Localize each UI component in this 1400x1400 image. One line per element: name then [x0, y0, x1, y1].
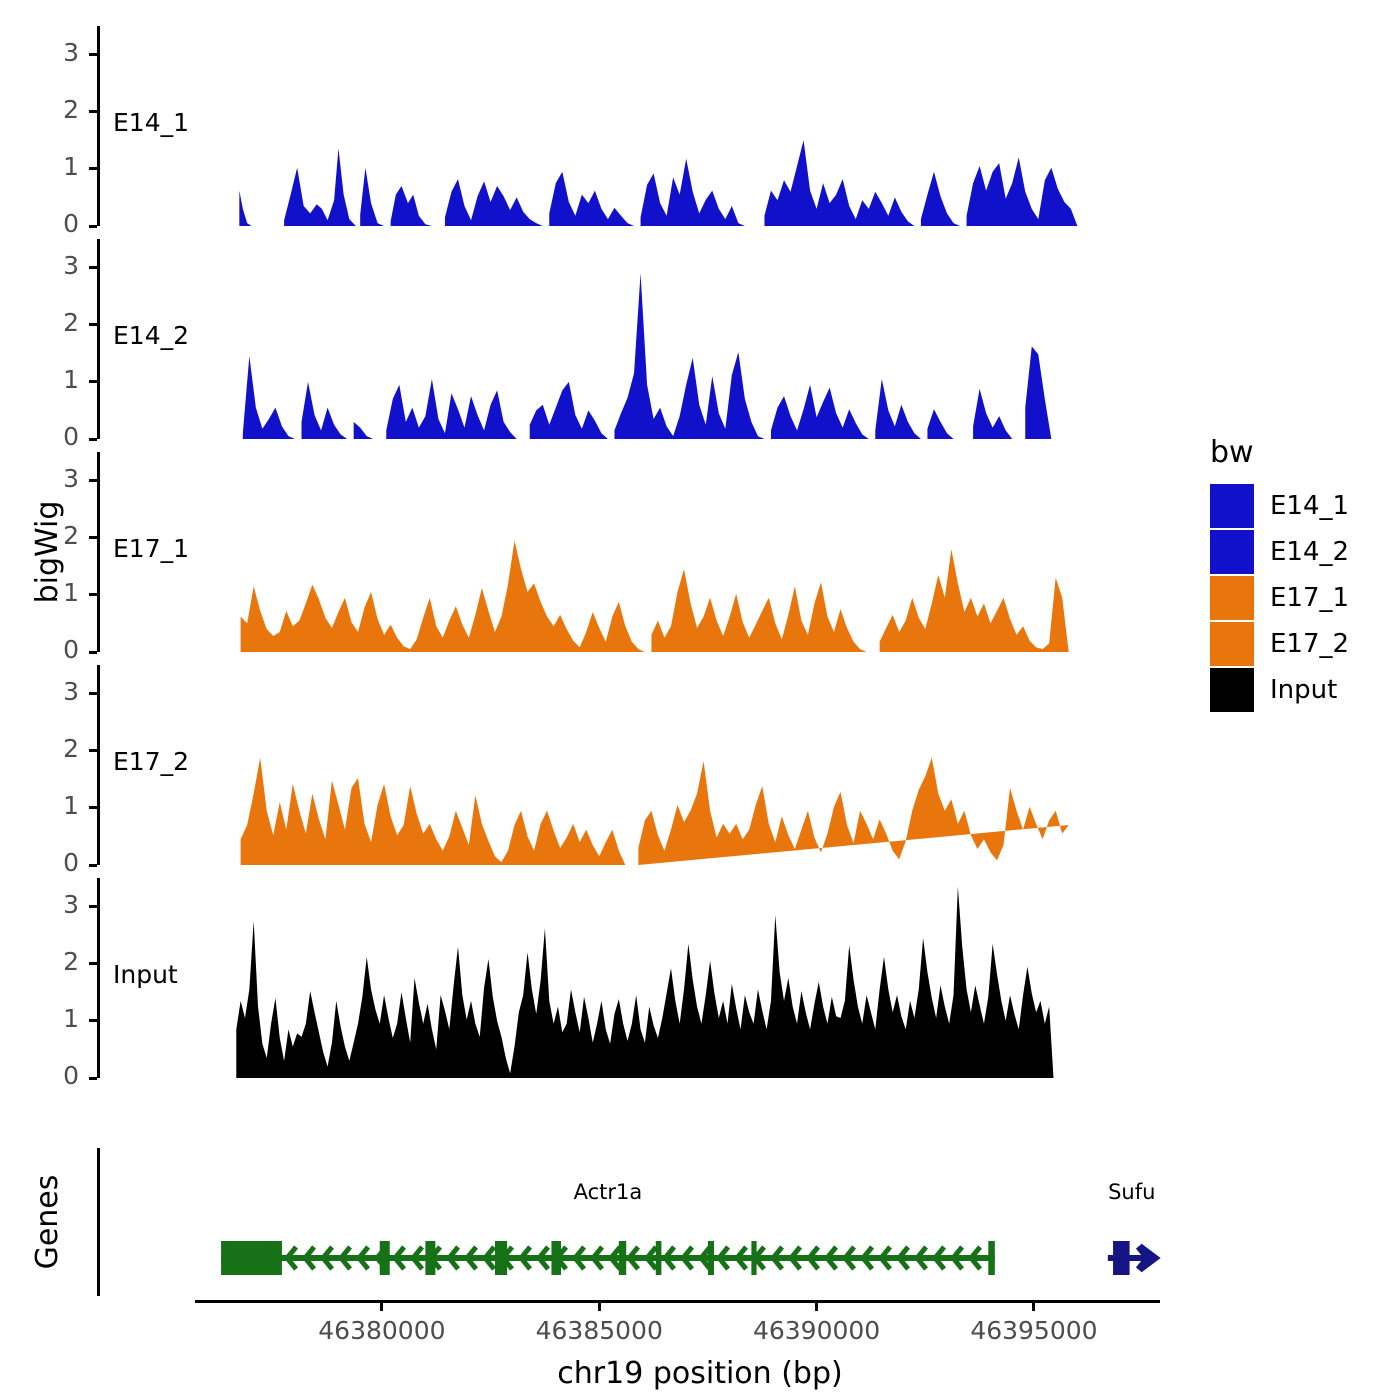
- track-panel-e14_1: 0123E14_1: [0, 26, 1400, 226]
- x-tick-label: 46385000: [489, 1316, 709, 1345]
- gene-exon: [551, 1241, 561, 1275]
- legend-swatch: [1210, 622, 1254, 666]
- gene-models: [0, 1148, 1400, 1296]
- x-tick-label: 46380000: [272, 1316, 492, 1345]
- track-area-e14_1: [0, 26, 1400, 226]
- genome-browser-figure: bigWig Genes 0123E14_10123E14_20123E17_1…: [0, 0, 1400, 1400]
- gene-exon: [751, 1241, 756, 1275]
- legend-item-e14_1[interactable]: E14_1: [1210, 484, 1349, 528]
- track-area-e14_2: [0, 239, 1400, 439]
- legend-items: E14_1E14_2E17_1E17_2Input: [1210, 484, 1349, 712]
- x-tick-label: 46395000: [924, 1316, 1144, 1345]
- x-tick: [1032, 1303, 1035, 1311]
- legend-swatch: [1210, 484, 1254, 528]
- gene-exon: [425, 1241, 435, 1275]
- legend: bw E14_1E14_2E17_1E17_2Input: [1210, 435, 1349, 714]
- legend-item-e17_2[interactable]: E17_2: [1210, 622, 1349, 666]
- track-panel-input: 0123Input: [0, 878, 1400, 1078]
- genes-panel: Actr1aSufu: [0, 1148, 1400, 1296]
- legend-item-e17_1[interactable]: E17_1: [1210, 576, 1349, 620]
- track-panel-e14_2: 0123E14_2: [0, 239, 1400, 439]
- x-tick: [815, 1303, 818, 1311]
- legend-label: E17_2: [1270, 629, 1349, 659]
- x-tick-label: 46390000: [707, 1316, 927, 1345]
- gene-exon: [656, 1241, 662, 1275]
- gene-exon: [988, 1241, 995, 1275]
- gene-exon: [619, 1241, 626, 1275]
- legend-label: E17_1: [1270, 583, 1349, 613]
- legend-label: E14_1: [1270, 491, 1349, 521]
- gene-exon: [495, 1241, 507, 1275]
- track-area-e17_2: [0, 665, 1400, 865]
- track-panel-e17_1: 0123E17_1: [0, 452, 1400, 652]
- legend-title: bw: [1210, 435, 1349, 470]
- legend-item-e14_2[interactable]: E14_2: [1210, 530, 1349, 574]
- gene-exon: [1113, 1241, 1130, 1275]
- x-axis-title: chr19 position (bp): [0, 1356, 1400, 1391]
- legend-swatch: [1210, 530, 1254, 574]
- track-panel-e17_2: 0123E17_2: [0, 665, 1400, 865]
- legend-swatch: [1210, 668, 1254, 712]
- x-axis-line: [195, 1300, 1160, 1303]
- legend-label: E14_2: [1270, 537, 1349, 567]
- legend-swatch: [1210, 576, 1254, 620]
- x-tick: [598, 1303, 601, 1311]
- track-area-input: [0, 878, 1400, 1078]
- gene-exon: [221, 1241, 282, 1275]
- track-area-e17_1: [0, 452, 1400, 652]
- x-tick: [380, 1303, 383, 1311]
- gene-exon: [380, 1241, 390, 1275]
- gene-exon: [708, 1241, 714, 1275]
- legend-label: Input: [1270, 675, 1337, 705]
- legend-item-input[interactable]: Input: [1210, 668, 1349, 712]
